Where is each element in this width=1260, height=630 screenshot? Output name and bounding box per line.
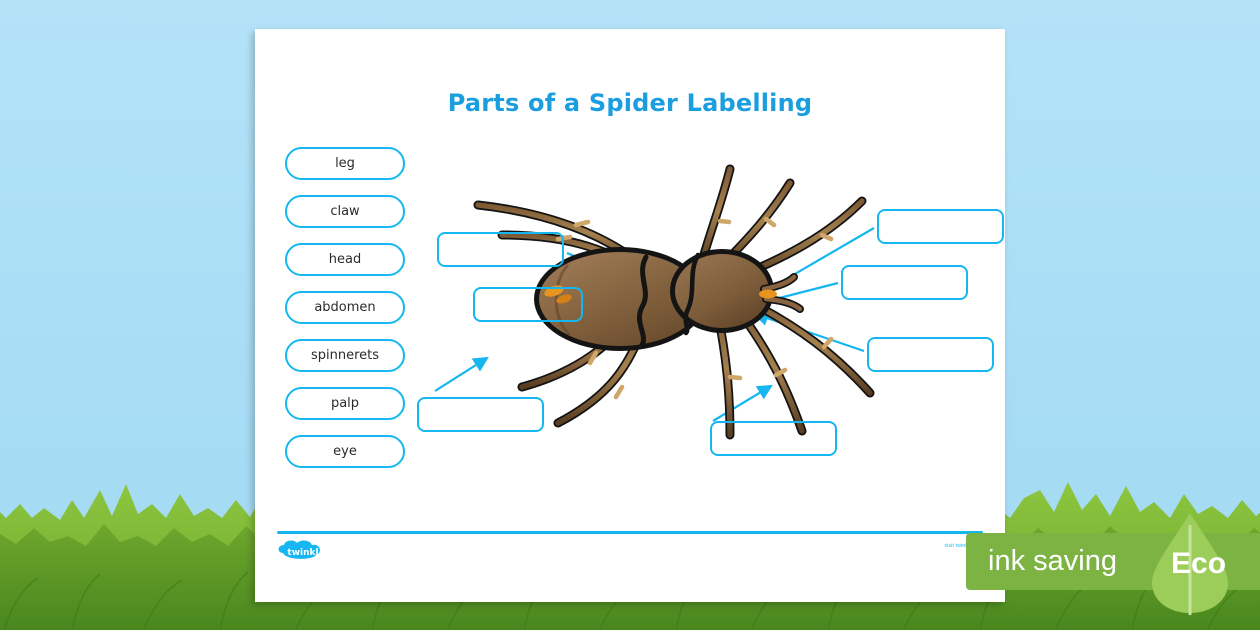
word-bank-item-leg[interactable]: leg bbox=[285, 147, 405, 180]
answer-box-5[interactable] bbox=[867, 337, 994, 372]
word-bank-label: leg bbox=[335, 156, 355, 171]
answer-box-2[interactable] bbox=[473, 287, 583, 322]
word-bank-label: claw bbox=[330, 204, 359, 219]
word-bank-item-claw[interactable]: claw bbox=[285, 195, 405, 228]
worksheet-page: Parts of a Spider Labelling leg claw hea… bbox=[255, 29, 1005, 602]
word-bank-label: abdomen bbox=[314, 300, 375, 315]
answer-box-3[interactable] bbox=[877, 209, 1004, 244]
answer-box-6[interactable] bbox=[417, 397, 544, 432]
answer-box-4[interactable] bbox=[841, 265, 968, 300]
svg-text:twinkl: twinkl bbox=[287, 548, 318, 558]
answer-box-1[interactable] bbox=[437, 232, 564, 267]
word-bank-label: head bbox=[329, 252, 361, 267]
page-title: Parts of a Spider Labelling bbox=[255, 89, 1005, 117]
word-bank-item-palp[interactable]: palp bbox=[285, 387, 405, 420]
word-bank-label: eye bbox=[333, 444, 357, 459]
word-bank-item-spinnerets[interactable]: spinnerets bbox=[285, 339, 405, 372]
word-bank: leg claw head abdomen spinnerets palp ey… bbox=[285, 147, 405, 483]
eco-badge-word: Eco bbox=[1171, 547, 1226, 581]
twinkl-logo: twinkl bbox=[275, 539, 331, 563]
footer-divider bbox=[277, 531, 983, 534]
eco-badge: ink saving Eco bbox=[966, 533, 1260, 590]
word-bank-item-abdomen[interactable]: abdomen bbox=[285, 291, 405, 324]
word-bank-label: spinnerets bbox=[311, 348, 379, 363]
word-bank-label: palp bbox=[331, 396, 359, 411]
word-bank-item-eye[interactable]: eye bbox=[285, 435, 405, 468]
word-bank-item-head[interactable]: head bbox=[285, 243, 405, 276]
answer-box-7[interactable] bbox=[710, 421, 837, 456]
eco-badge-text: ink saving bbox=[988, 545, 1117, 578]
